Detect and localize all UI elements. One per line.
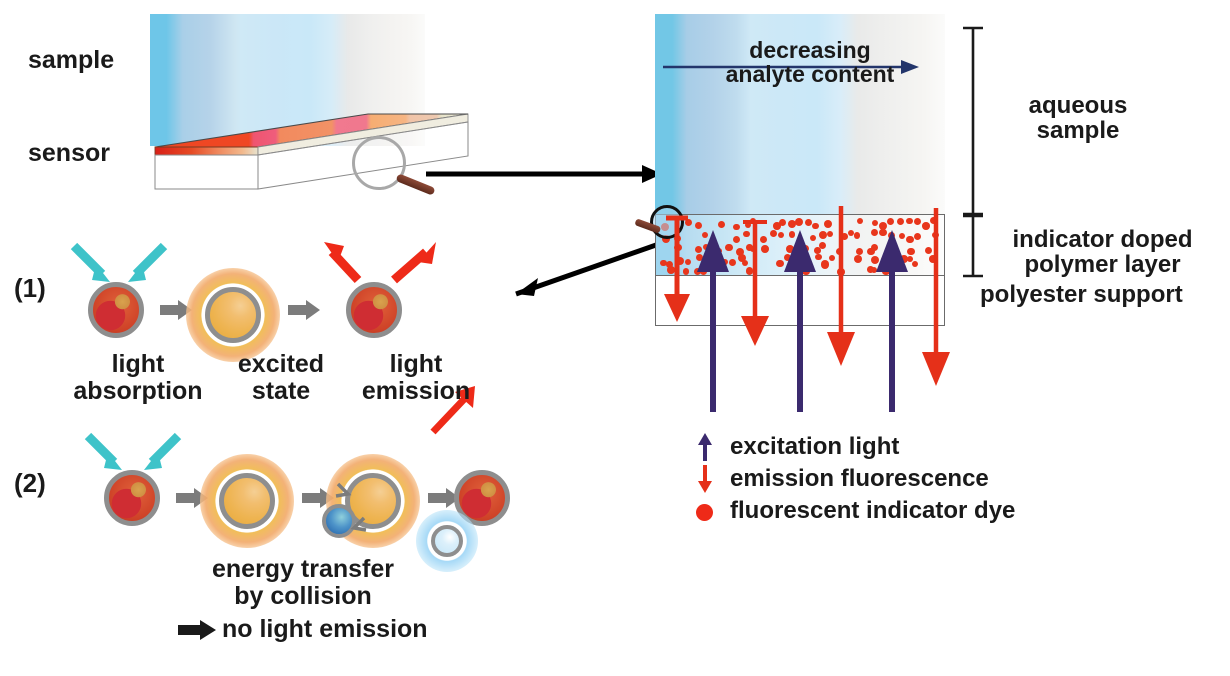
- up-arrow-icon: [692, 432, 718, 462]
- excitation-arrow-1: [697, 230, 729, 412]
- legend: excitation light emission fluorescence f…: [692, 432, 1172, 528]
- excitation-arrow-2: [784, 230, 816, 412]
- label-sample: sample: [28, 47, 114, 74]
- sensor-slab-3d: [150, 14, 470, 199]
- caption-energy-transfer: energy transfer by collision: [168, 556, 438, 609]
- excitation-arrow-3: [876, 230, 908, 412]
- emission-arrow-3: [922, 208, 950, 386]
- magnifier-on-slab: [352, 136, 414, 198]
- label-aqueous-sample: aqueous sample: [988, 93, 1168, 144]
- result-right-arrow-icon: [178, 620, 218, 640]
- caption-excited-state: excited state: [220, 351, 342, 404]
- molecule-excited-state: [219, 473, 275, 529]
- caption-no-light-emission: no light emission: [222, 616, 428, 643]
- mechanism-row-2: [60, 432, 530, 572]
- legend-label-emission-fluorescence: emission fluorescence: [730, 465, 989, 493]
- legend-row-excitation-light: excitation light: [692, 432, 1172, 464]
- molecule-quencher-excited: [431, 525, 463, 557]
- molecule-after-emission: [346, 282, 402, 338]
- bracket-aqueous: [963, 28, 983, 214]
- label-sensor: sensor: [28, 140, 110, 167]
- connector-arrow-to-cross-section: [424, 160, 664, 186]
- molecule-ground-state: [104, 470, 160, 526]
- mechanism-row-2-number: (2): [14, 470, 46, 498]
- molecule-ground-state: [88, 282, 144, 338]
- label-indicator-doped-polymer-layer: indicator doped polymer layer: [980, 227, 1225, 278]
- legend-row-indicator-dye: fluorescent indicator dye: [692, 496, 1172, 528]
- emission-arrow-2: [827, 206, 855, 366]
- light-beam-arrows: [655, 190, 955, 420]
- legend-label-indicator-dye: fluorescent indicator dye: [730, 497, 1015, 525]
- sensor-slab-illustration: [150, 14, 470, 199]
- emission-arrow-0: [664, 218, 690, 322]
- legend-row-emission-fluorescence: emission fluorescence: [692, 464, 1172, 496]
- mechanism-row-1-number: (1): [14, 275, 46, 303]
- down-arrow-icon: [692, 464, 718, 494]
- label-polyester-support: polyester support: [980, 282, 1230, 307]
- legend-label-excitation-light: excitation light: [730, 433, 899, 461]
- collision-transfer-marks: [332, 476, 372, 538]
- mechanism-row-1: [60, 240, 480, 350]
- step-arrow-icon: [288, 300, 322, 320]
- filled-circle-icon: [696, 504, 713, 521]
- figure-canvas: sample sensor: [0, 0, 1230, 676]
- molecule-excited-state: [205, 287, 261, 343]
- label-decreasing-analyte-content: decreasing analyte content: [700, 38, 920, 87]
- emission-arrow-1: [741, 222, 769, 346]
- caption-light-absorption: light absorption: [62, 351, 214, 404]
- caption-light-emission: light emission: [342, 351, 490, 404]
